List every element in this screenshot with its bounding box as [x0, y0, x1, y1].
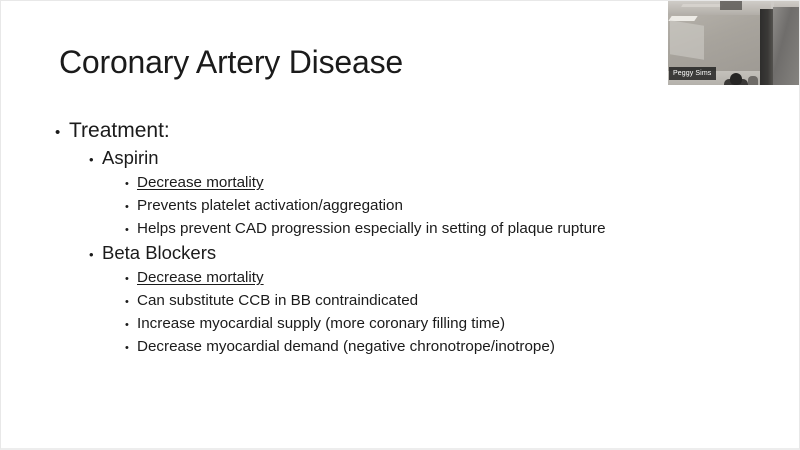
bullet-text: Aspirin	[102, 145, 159, 171]
bullet-text: Decrease mortality	[137, 266, 264, 289]
bullet-marker-icon: •	[125, 268, 137, 291]
bullet-text: Treatment:	[69, 117, 170, 145]
bullet-marker-icon: •	[125, 173, 137, 196]
bullet-item: •Helps prevent CAD progression especiall…	[1, 217, 661, 240]
bullet-marker-icon: •	[89, 147, 102, 173]
bullet-item: •Treatment:	[1, 117, 661, 145]
video-person-secondary	[748, 76, 758, 85]
bullet-marker-icon: •	[125, 337, 137, 360]
video-glass-panel	[773, 7, 799, 85]
bullet-text: Beta Blockers	[102, 240, 216, 266]
bullet-text: Decrease mortality	[137, 171, 264, 194]
slide-body-content: •Treatment:•Aspirin•Decrease mortality•P…	[1, 117, 661, 358]
bullet-item: •Increase myocardial supply (more corona…	[1, 312, 661, 335]
bullet-item: •Aspirin	[1, 145, 661, 171]
bullet-text: Can substitute CCB in BB contraindicated	[137, 289, 418, 312]
bullet-marker-icon: •	[125, 196, 137, 219]
bullet-marker-icon: •	[125, 219, 137, 242]
video-wall-panel	[670, 20, 704, 59]
bullet-item: •Decrease mortality	[1, 171, 661, 194]
bullet-item: •Prevents platelet activation/aggregatio…	[1, 194, 661, 217]
presentation-slide: Coronary Artery Disease •Treatment:•Aspi…	[0, 0, 800, 450]
bullet-marker-icon: •	[125, 291, 137, 314]
bullet-item: •Beta Blockers	[1, 240, 661, 266]
bullet-text: Helps prevent CAD progression especially…	[137, 217, 606, 240]
video-ceiling-light-far	[681, 4, 723, 7]
bullet-item: •Can substitute CCB in BB contraindicate…	[1, 289, 661, 312]
bullet-text: Increase myocardial supply (more coronar…	[137, 312, 505, 335]
video-person-head	[730, 73, 742, 85]
bullet-item: •Decrease mortality	[1, 266, 661, 289]
participant-name-label: Peggy Sims	[669, 67, 716, 80]
slide-title: Coronary Artery Disease	[59, 42, 403, 82]
video-ceiling-beam	[720, 1, 742, 10]
video-door-frame	[760, 9, 773, 85]
bullet-item: •Decrease myocardial demand (negative ch…	[1, 335, 661, 358]
bullet-marker-icon: •	[89, 242, 102, 268]
bullet-marker-icon: •	[125, 314, 137, 337]
bullet-text: Decrease myocardial demand (negative chr…	[137, 335, 555, 358]
bullet-text: Prevents platelet activation/aggregation	[137, 194, 403, 217]
bullet-marker-icon: •	[55, 119, 69, 147]
webcam-video-overlay[interactable]: Peggy Sims	[668, 1, 799, 85]
